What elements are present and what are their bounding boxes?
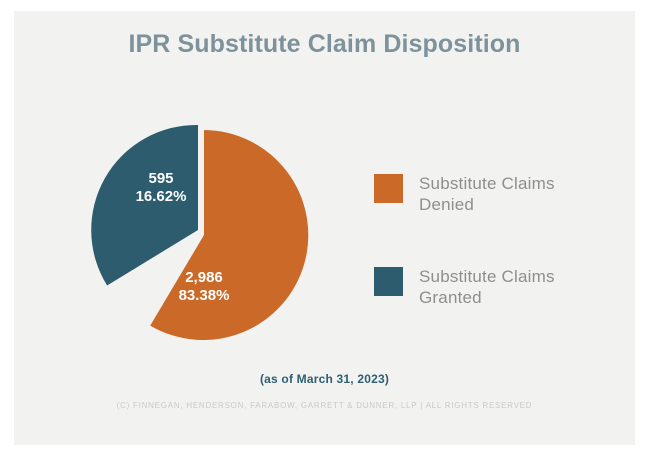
- chart-legend: Substitute Claims Denied Substitute Clai…: [374, 173, 604, 359]
- pie-slice-granted[interactable]: [91, 125, 198, 286]
- legend-label-granted: Substitute Claims Granted: [419, 266, 604, 308]
- pie-label-granted-value: 595: [148, 170, 173, 187]
- legend-label-denied: Substitute Claims Denied: [419, 173, 604, 215]
- legend-swatch-denied: [374, 174, 403, 203]
- legend-item-granted[interactable]: Substitute Claims Granted: [374, 266, 604, 308]
- pie-label-granted-percent: 16.62%: [136, 188, 187, 205]
- copyright-notice: (C) FINNEGAN, HENDERSON, FARABOW, GARRET…: [14, 401, 635, 410]
- legend-swatch-granted: [374, 267, 403, 296]
- page-title: IPR Substitute Claim Disposition: [14, 30, 635, 59]
- pie-label-denied-percent: 83.38%: [179, 287, 230, 304]
- as-of-note: (as of March 31, 2023): [14, 372, 635, 386]
- pie-label-denied-value: 2,986: [185, 269, 223, 286]
- legend-item-denied[interactable]: Substitute Claims Denied: [374, 173, 604, 215]
- pie-chart: 595 16.62% 2,986 83.38%: [76, 110, 326, 360]
- pie-chart-svg: 595 16.62% 2,986 83.38%: [76, 110, 326, 360]
- slide-panel: IPR Substitute Claim Disposition 595 16.…: [14, 11, 635, 445]
